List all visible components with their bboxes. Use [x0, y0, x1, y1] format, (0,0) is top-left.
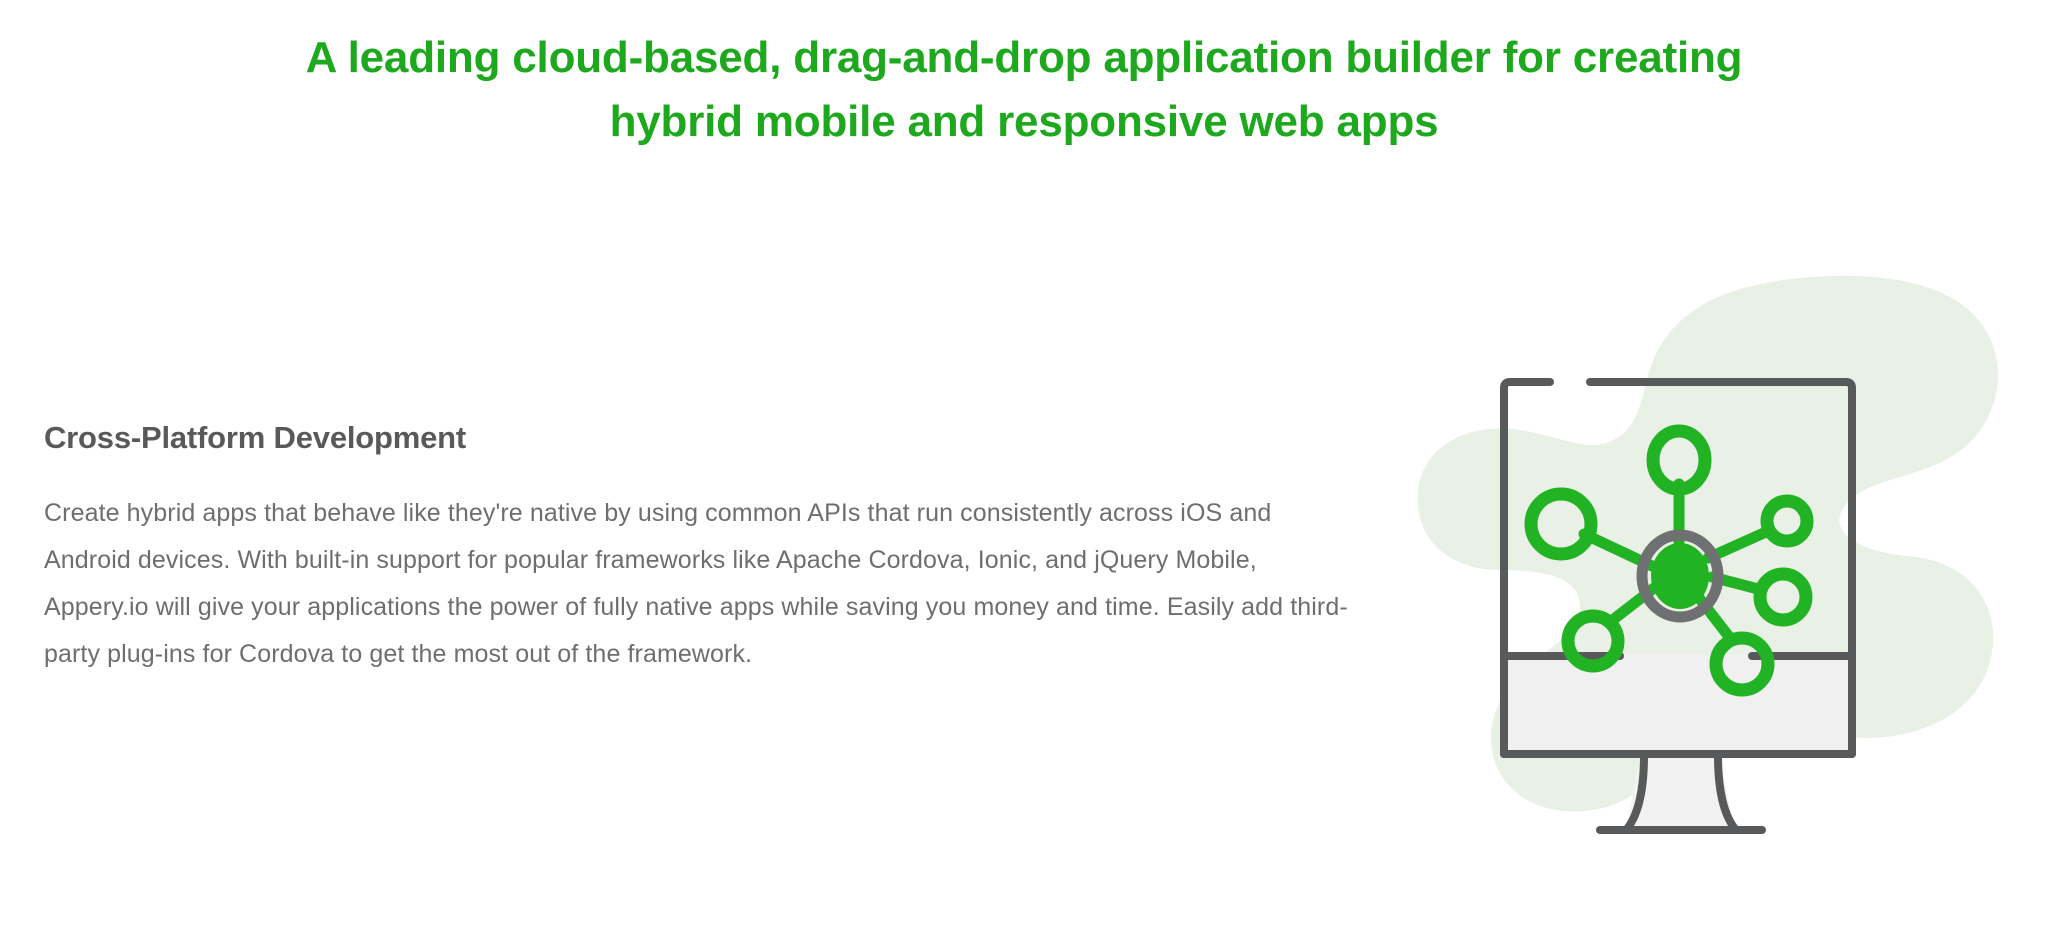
- feature-heading: Cross-Platform Development: [44, 420, 1364, 456]
- page-title-line-1: A leading cloud-based, drag-and-drop app…: [306, 33, 1743, 82]
- feature-section: Cross-Platform Development Create hybrid…: [0, 300, 2048, 860]
- page-title-line-2: hybrid mobile and responsive web apps: [610, 97, 1439, 146]
- network-hub: [1642, 535, 1718, 617]
- cross-platform-network-monitor-icon: [1352, 270, 2012, 860]
- feature-body-text: Create hybrid apps that behave like they…: [44, 490, 1349, 678]
- network-hub-core: [1651, 543, 1709, 609]
- hero-section: A leading cloud-based, drag-and-drop app…: [0, 26, 2048, 154]
- monitor-screen-band: [1504, 654, 1852, 754]
- feature-text-block: Cross-Platform Development Create hybrid…: [44, 420, 1364, 678]
- page-title: A leading cloud-based, drag-and-drop app…: [44, 26, 2004, 154]
